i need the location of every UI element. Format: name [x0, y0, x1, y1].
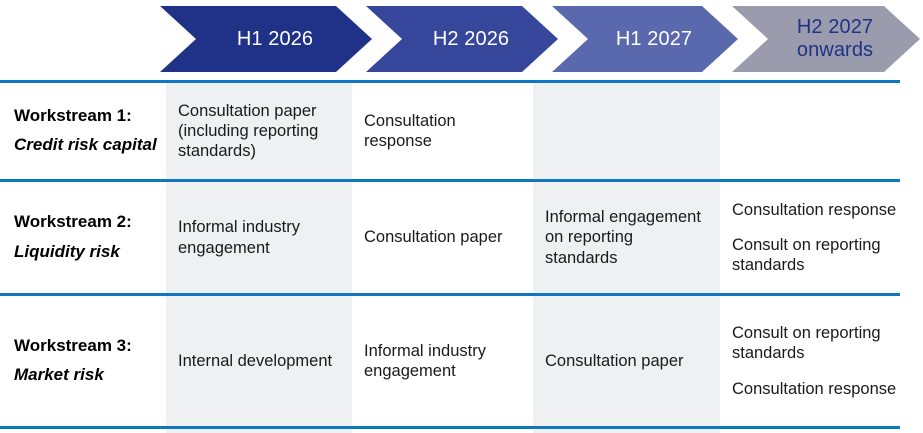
workstream-table: Workstream 1: Credit risk capital Consul…	[0, 76, 923, 433]
cell-text: Consultation paper	[545, 351, 710, 371]
cell-ws1-h2-2026: Consultation response	[352, 83, 533, 179]
cell-ws3-h2-2027-onwards: Consult on reporting standards Consultat…	[720, 296, 923, 426]
cell-text: Consult on reporting standards	[732, 235, 913, 275]
cell-text: Consultation paper	[364, 227, 523, 247]
timeline-phase-label: H2 2026	[415, 28, 509, 51]
table-row: Workstream 2: Liquidity risk Informal in…	[0, 182, 923, 293]
row-divider	[0, 426, 900, 429]
workstream-title: Workstream 1:	[14, 106, 160, 126]
row-header-workstream-2: Workstream 2: Liquidity risk	[0, 182, 166, 293]
cell-text: Internal development	[178, 351, 340, 371]
row-divider	[0, 80, 900, 83]
workstream-subtitle: Market risk	[14, 365, 160, 386]
row-header-workstream-1: Workstream 1: Credit risk capital	[0, 83, 166, 179]
cell-text: Consultation response	[364, 111, 523, 151]
cell-ws1-h1-2026: Consultation paper (including reporting …	[166, 83, 352, 179]
cell-ws3-h2-2026: Informal industry engagement	[352, 296, 533, 426]
cell-ws1-h1-2027	[533, 83, 720, 179]
workstream-subtitle: Liquidity risk	[14, 242, 160, 263]
cell-ws3-h1-2026: Internal development	[166, 296, 352, 426]
cell-text: Informal industry engagement	[178, 217, 340, 257]
cell-ws1-h2-2027-onwards	[720, 83, 923, 179]
timeline-header: H1 2026 H2 2026 H1 2027 H2 2027 onwards	[0, 0, 923, 76]
cell-ws2-h1-2026: Informal industry engagement	[166, 182, 352, 293]
workstream-subtitle: Credit risk capital	[14, 135, 160, 156]
workstream-title: Workstream 2:	[14, 212, 160, 232]
timeline-phase-h1-2027[interactable]: H1 2027	[552, 6, 738, 72]
cell-text: Consultation paper (including reporting …	[178, 101, 340, 161]
timeline-phase-h2-2026[interactable]: H2 2026	[366, 6, 558, 72]
row-divider	[0, 179, 900, 182]
cell-text: Consultation response	[732, 200, 913, 220]
table-row: Workstream 1: Credit risk capital Consul…	[0, 83, 923, 179]
row-divider	[0, 293, 900, 296]
cell-text: Consultation response	[732, 379, 913, 399]
roadmap-diagram: H1 2026 H2 2026 H1 2027 H2 2027 onwards …	[0, 0, 923, 433]
timeline-phase-label: H2 2027 onwards	[779, 16, 873, 62]
cell-ws2-h2-2027-onwards: Consultation response Consult on reporti…	[720, 182, 923, 293]
row-header-workstream-3: Workstream 3: Market risk	[0, 296, 166, 426]
cell-text: Informal engagement on reporting standar…	[545, 207, 710, 267]
timeline-phase-label: H1 2026	[219, 28, 313, 51]
workstream-title: Workstream 3:	[14, 336, 160, 356]
cell-ws2-h1-2027: Informal engagement on reporting standar…	[533, 182, 720, 293]
cell-text: Consult on reporting standards	[732, 323, 913, 363]
table-row: Workstream 3: Market risk Internal devel…	[0, 296, 923, 426]
cell-ws2-h2-2026: Consultation paper	[352, 182, 533, 293]
timeline-phase-label: H1 2027	[598, 28, 692, 51]
cell-ws3-h1-2027: Consultation paper	[533, 296, 720, 426]
cell-text: Informal industry engagement	[364, 341, 523, 381]
timeline-phase-h2-2027-onwards[interactable]: H2 2027 onwards	[732, 6, 920, 72]
timeline-phase-h1-2026[interactable]: H1 2026	[160, 6, 372, 72]
